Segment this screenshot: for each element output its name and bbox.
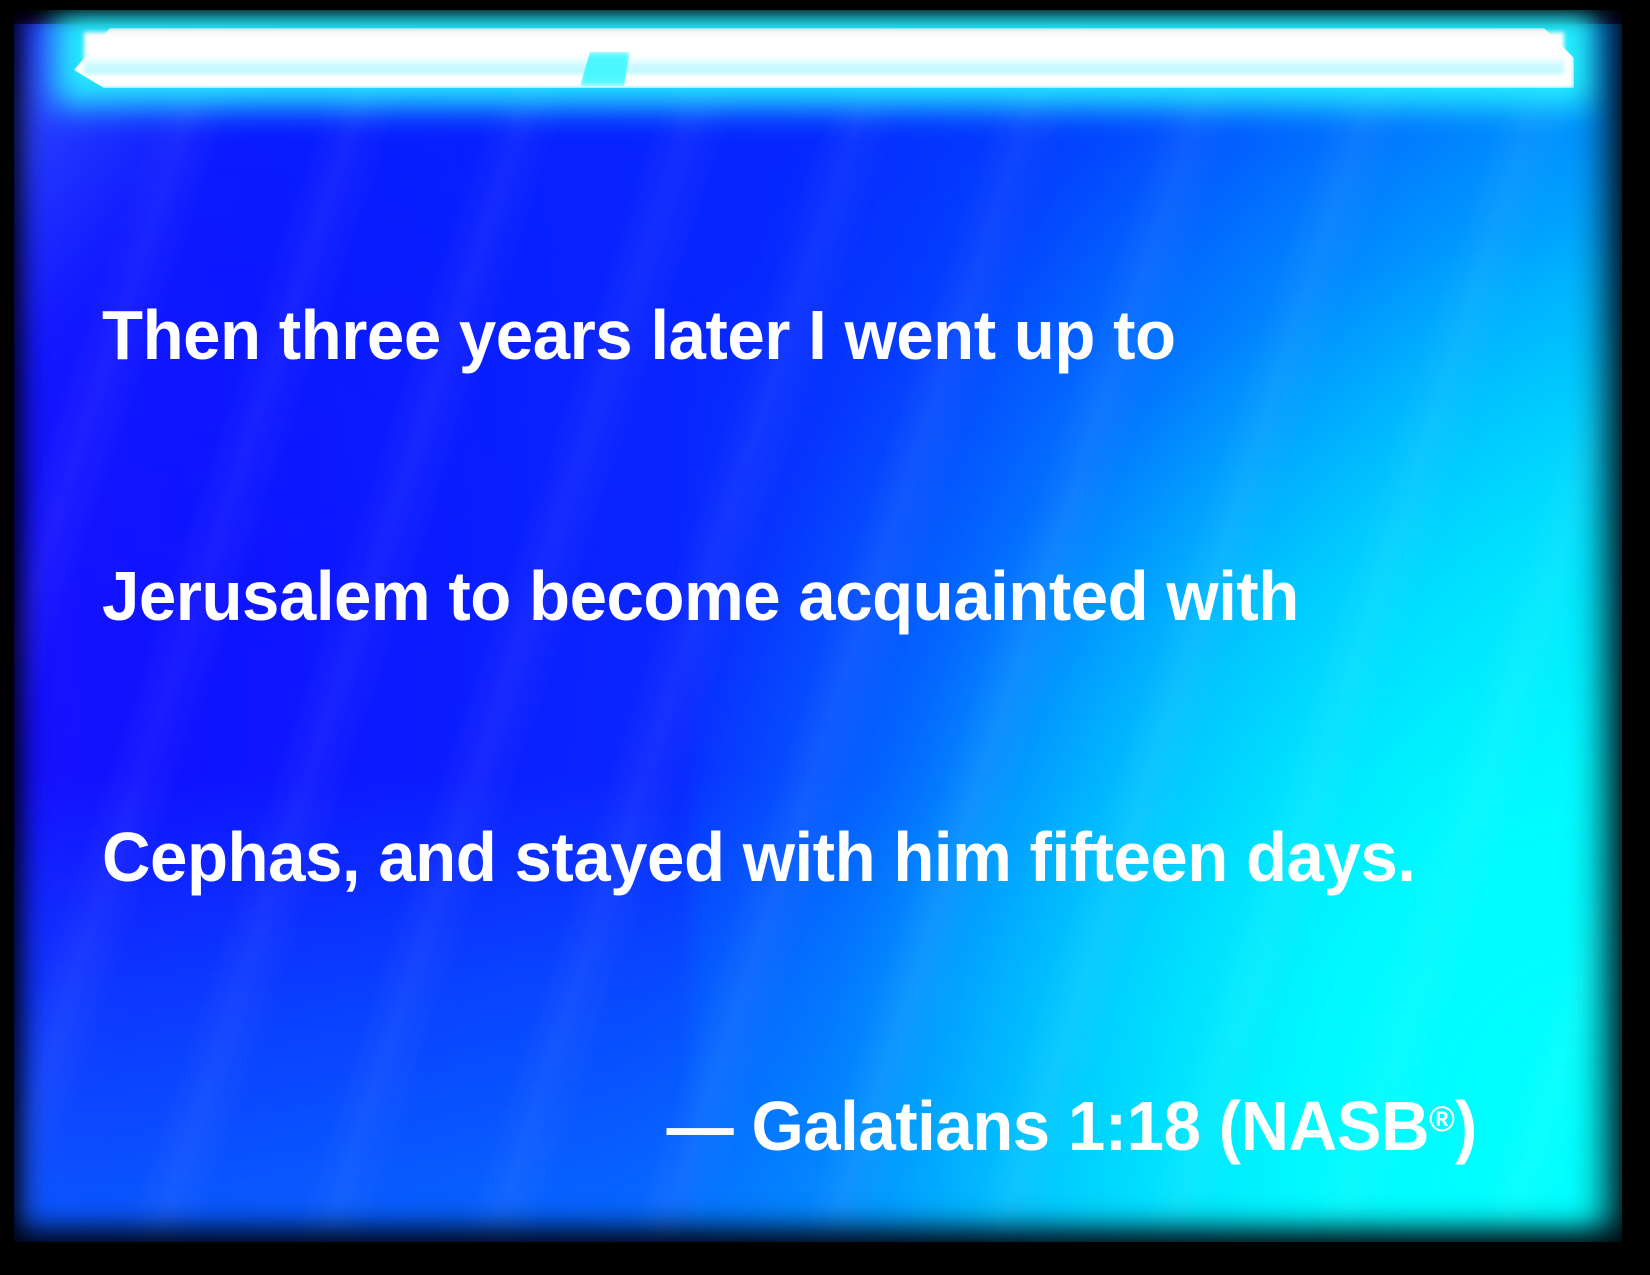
verse-line-2: Jerusalem to become acquainted with <box>102 553 1494 640</box>
verse-slide: Then three years later I went up to Jeru… <box>0 0 1650 1275</box>
verse-text-block: Then three years later I went up to Jeru… <box>102 118 1494 1242</box>
attribution-space-2 <box>1050 1087 1068 1165</box>
attribution-translation: NASB <box>1241 1087 1430 1165</box>
attribution-close-paren: ) <box>1455 1087 1477 1165</box>
attribution-dash: — <box>667 1087 734 1165</box>
light-bar-core <box>84 32 1564 74</box>
verse-line-3: Cephas, and stayed with him fifteen days… <box>102 814 1494 901</box>
registered-trademark-icon: ® <box>1429 1098 1455 1139</box>
attribution-reference: 1:18 <box>1068 1087 1201 1165</box>
attribution-open-paren: ( <box>1219 1087 1241 1165</box>
verse-attribution: — Galatians 1:18 (NASB®) <box>102 1075 1494 1170</box>
attribution-book: Galatians <box>751 1087 1049 1165</box>
top-light-bar <box>14 10 1622 120</box>
verse-line-1: Then three years later I went up to <box>102 292 1494 379</box>
attribution-space-3 <box>1200 1087 1218 1165</box>
attribution-space-1 <box>733 1087 751 1165</box>
slide-artboard: Then three years later I went up to Jeru… <box>14 10 1622 1242</box>
